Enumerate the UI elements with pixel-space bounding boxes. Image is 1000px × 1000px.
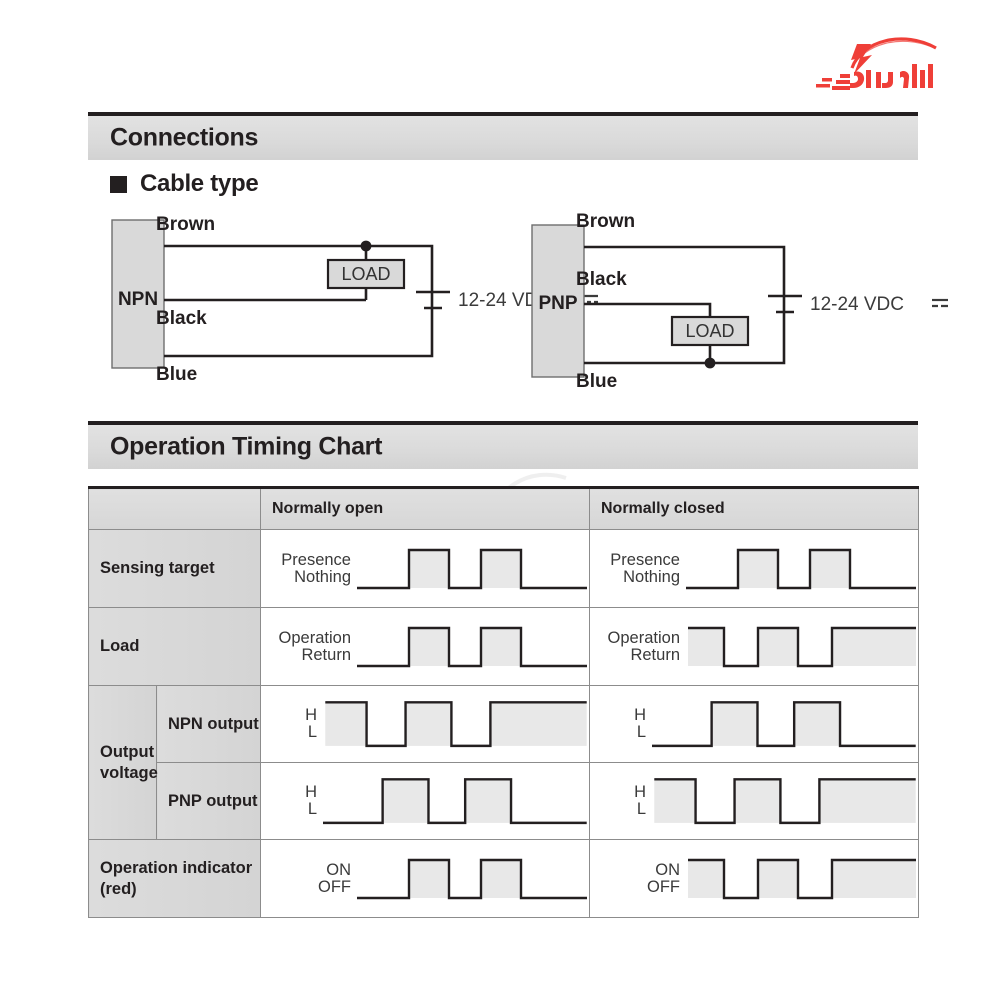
table-row: Sensing target Presence Nothing Presence… <box>89 530 919 608</box>
waveform-low-label: Nothing <box>590 569 680 586</box>
waveform-high-label: H <box>261 784 317 801</box>
operation-timing-table: Normally open Normally closed Sensing ta… <box>88 486 919 918</box>
section-header-timing: Operation Timing Chart <box>88 421 918 469</box>
wire-label-black-pnp: Black <box>576 269 627 290</box>
waveform-high-label: Presence <box>590 552 680 569</box>
supply-label-pnp: 12-24 VDC <box>810 294 904 315</box>
square-bullet-icon <box>110 176 127 193</box>
waveform-cell-normally-open: Presence Nothing <box>261 530 590 608</box>
waveform-low-label: OFF <box>590 879 680 896</box>
junction-dot-pnp <box>705 358 716 369</box>
waveform-cell-normally-open: H L <box>261 686 590 763</box>
row-sublabel-pnp-output: PNP output <box>157 763 261 840</box>
waveform-high-label: H <box>590 707 646 724</box>
waveform-high-label: Operation <box>590 630 680 647</box>
waveform-normally-closed-normal <box>652 692 918 756</box>
dc-symbol-pnp <box>932 300 948 306</box>
table-header-row: Normally open Normally closed <box>89 488 919 530</box>
waveform-low-label: L <box>261 801 317 818</box>
waveform-cell-normally-closed: H L <box>590 686 919 763</box>
waveform-normally-closed-inverted <box>652 769 918 833</box>
table-row: Load Operation Return Operation Return <box>89 608 919 686</box>
load-label-npn: LOAD <box>341 264 390 284</box>
row-label-operation-indicator-red: Operation indicator (red) <box>89 840 261 918</box>
wire-label-blue-pnp: Blue <box>576 371 617 392</box>
waveform-high-label: ON <box>261 862 351 879</box>
row-label-output-voltage: Output voltage <box>89 686 157 840</box>
waveform-low-label: Return <box>590 647 680 664</box>
row-sublabel-npn-output: NPN output <box>157 686 261 763</box>
waveform-low-label: L <box>590 724 646 741</box>
header-normally-closed: Normally closed <box>590 488 919 530</box>
waveform-high-label: ON <box>590 862 680 879</box>
waveform-cell-normally-open: H L <box>261 763 590 840</box>
sub-heading-label: Cable type <box>140 170 258 198</box>
waveform-low-label: Nothing <box>261 569 351 586</box>
waveform-low-label: Return <box>261 647 351 664</box>
waveform-cell-normally-closed: Operation Return <box>590 608 919 686</box>
table-row: PNP output H L H L <box>89 763 919 840</box>
waveform-low-label: L <box>590 801 646 818</box>
wire-label-blue-npn: Blue <box>156 364 197 385</box>
waveform-normally-open-normal <box>357 541 589 597</box>
row-label-load: Load <box>89 608 261 686</box>
device-label-pnp: PNP <box>538 293 577 314</box>
header-blank <box>89 488 261 530</box>
section-header-connections: Connections <box>88 112 918 160</box>
section-title-timing: Operation Timing Chart <box>110 433 382 462</box>
datasheet-page: Connections Cable type NPN Brown LOAD <box>0 0 1000 1000</box>
wiring-diagram-npn: NPN Brown LOAD Black Blue <box>100 212 520 402</box>
wire-black-pnp <box>584 304 710 317</box>
waveform-normally-closed-inverted <box>686 619 918 675</box>
waveform-low-label: OFF <box>261 879 351 896</box>
waveform-cell-normally-closed: ON OFF <box>590 840 919 918</box>
waveform-normally-open-inverted <box>323 692 589 756</box>
load-label-pnp: LOAD <box>685 321 734 341</box>
waveform-high-label: Operation <box>261 630 351 647</box>
wire-label-brown-pnp: Brown <box>576 211 635 232</box>
waveform-normally-open-normal <box>357 851 589 907</box>
waveform-normally-closed-inverted <box>686 851 918 907</box>
arta-electric-logo <box>808 24 960 92</box>
header-normally-open: Normally open <box>261 488 590 530</box>
waveform-normally-open-normal <box>357 619 589 675</box>
waveform-high-label: Presence <box>261 552 351 569</box>
device-label-npn: NPN <box>118 289 158 310</box>
wire-label-black-npn: Black <box>156 308 207 329</box>
wire-label-brown-npn: Brown <box>156 214 215 235</box>
waveform-normally-closed-normal <box>686 541 918 597</box>
waveform-high-label: H <box>590 784 646 801</box>
waveform-cell-normally-open: ON OFF <box>261 840 590 918</box>
table-row: Output voltageNPN output H L H L <box>89 686 919 763</box>
sub-heading-cable-type: Cable type <box>110 170 258 198</box>
waveform-normally-open-normal <box>323 769 589 833</box>
section-title-connections: Connections <box>110 124 258 153</box>
row-label-sensing-target: Sensing target <box>89 530 261 608</box>
waveform-cell-normally-open: Operation Return <box>261 608 590 686</box>
wiring-diagram-pnp: PNP Brown Black LOAD Blue 12-24 VDC <box>520 205 950 400</box>
table-row: Operation indicator (red) ON OFF ON OFF <box>89 840 919 918</box>
waveform-cell-normally-closed: Presence Nothing <box>590 530 919 608</box>
waveform-high-label: H <box>261 707 317 724</box>
waveform-low-label: L <box>261 724 317 741</box>
waveform-cell-normally-closed: H L <box>590 763 919 840</box>
